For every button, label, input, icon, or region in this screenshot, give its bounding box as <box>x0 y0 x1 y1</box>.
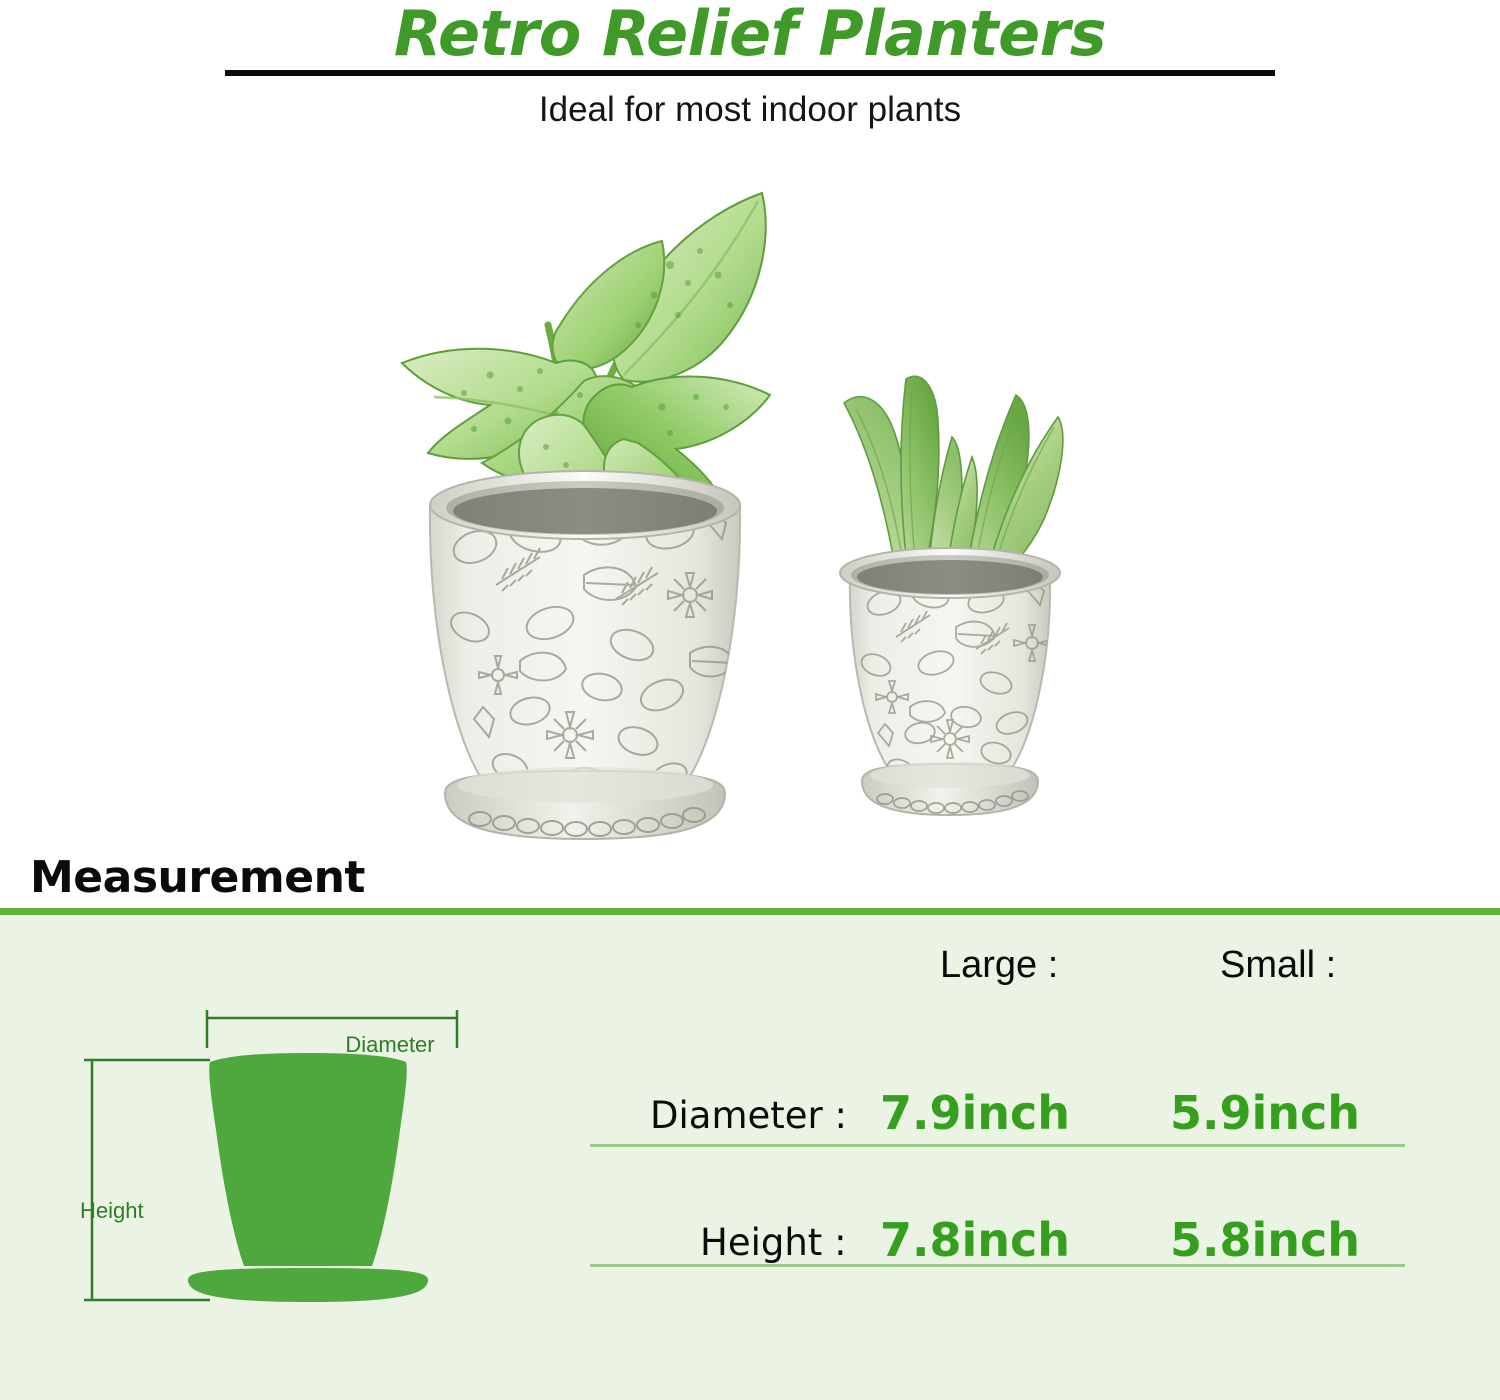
title-divider <box>225 70 1275 76</box>
measurement-table: Large : Small : Diameter : 7.9inch 5.9in… <box>560 915 1500 1400</box>
value-diameter-large: 7.9inch <box>880 1087 1070 1139</box>
measurement-divider <box>0 908 1500 915</box>
value-diameter-small: 5.9inch <box>1170 1087 1360 1139</box>
column-header-large: Large : <box>940 942 1058 988</box>
row-separator <box>590 1144 1405 1147</box>
measurement-heading: Measurement <box>30 852 365 904</box>
value-height-large: 7.8inch <box>880 1214 1070 1266</box>
header: Retro Relief Planters Ideal for most ind… <box>0 0 1500 140</box>
pot-silhouette-icon <box>60 970 530 1350</box>
large-planter-pot <box>370 175 800 855</box>
measurement-panel: Diameter Height Large : Small : <box>0 915 1500 1400</box>
height-dimension-label: Height <box>80 1198 144 1224</box>
page-title: Retro Relief Planters <box>0 2 1500 66</box>
page-subtitle: Ideal for most indoor plants <box>0 88 1500 132</box>
small-planter-group <box>800 325 1100 855</box>
row-label-diameter: Diameter : <box>650 1093 847 1139</box>
product-photo-area <box>0 140 1500 840</box>
diameter-dimension-label: Diameter <box>265 1032 515 1058</box>
row-label-height: Height : <box>700 1220 847 1266</box>
value-height-small: 5.8inch <box>1170 1214 1360 1266</box>
large-planter-group <box>370 175 800 855</box>
small-planter-pot <box>800 325 1100 855</box>
column-header-small: Small : <box>1220 942 1336 988</box>
pot-dimension-diagram: Diameter Height <box>60 970 530 1350</box>
